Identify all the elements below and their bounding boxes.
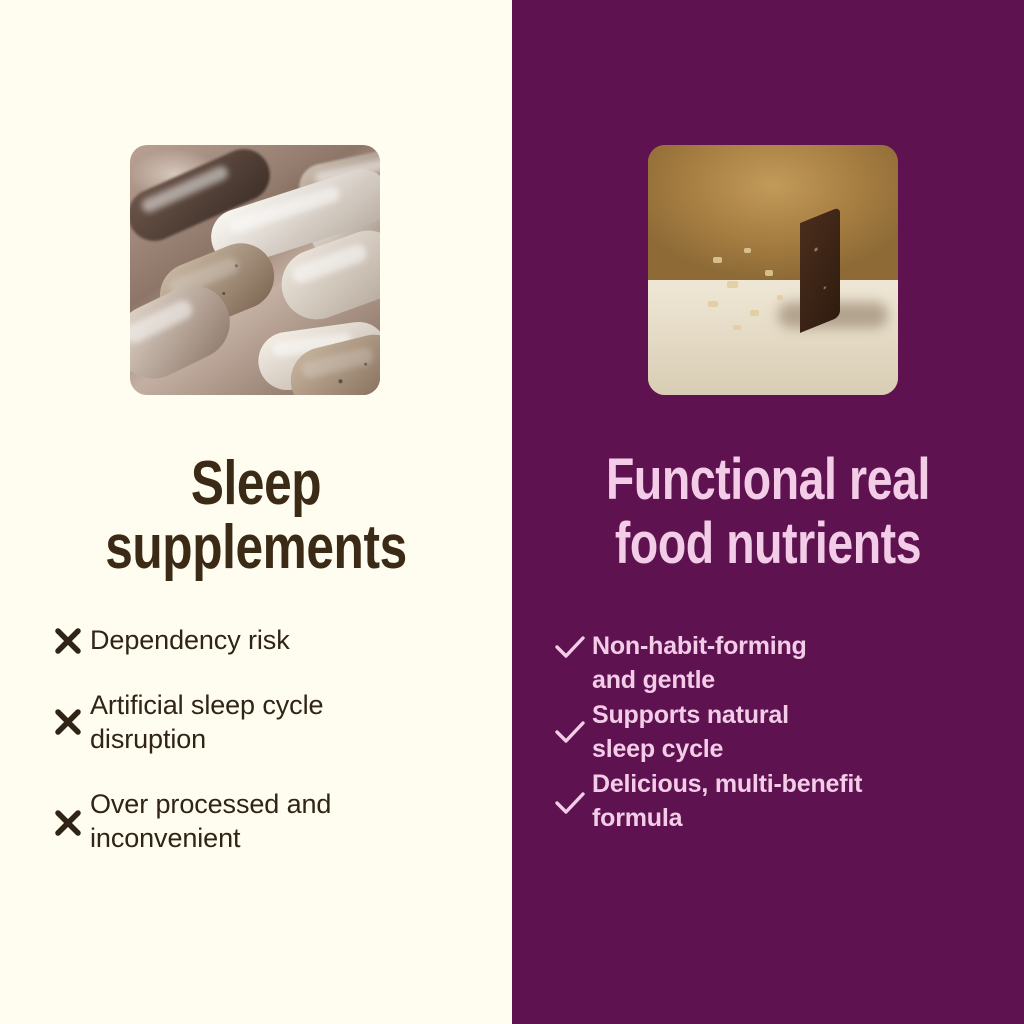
left-heading-line-2: supplements <box>51 516 461 580</box>
list-item: Artificial sleep cycle disruption <box>0 687 512 756</box>
x-icon <box>46 808 90 838</box>
list-item-text: Over processed and inconvenient <box>90 786 331 855</box>
right-heading-line-1: Functional real <box>563 448 973 512</box>
list-item: Over processed and inconvenient <box>0 786 512 855</box>
x-icon <box>46 707 90 737</box>
left-panel: Sleep supplements Dependency risk <box>0 0 512 1024</box>
cube-front-face <box>696 233 800 343</box>
list-item-text: Supports natural sleep cycle <box>592 697 789 766</box>
comparison-graphic: Sleep supplements Dependency risk <box>0 0 1024 1024</box>
energy-bar-photo <box>648 145 898 395</box>
left-heading-line-1: Sleep <box>51 452 461 516</box>
pills-photo <box>130 145 380 395</box>
pills-image-card <box>130 145 380 395</box>
energy-bar-cube <box>696 219 846 343</box>
list-item-text: Artificial sleep cycle disruption <box>90 687 323 756</box>
list-item: Dependency risk <box>0 622 512 657</box>
check-icon <box>548 717 592 747</box>
right-panel: Functional real food nutrients Non-habit… <box>512 0 1024 1024</box>
left-bullet-list: Dependency risk Artificial sleep cycle d… <box>0 622 512 885</box>
energy-bar-image-card <box>648 145 898 395</box>
right-bullet-list: Non-habit-forming and gentle Supports na… <box>512 628 1024 835</box>
check-icon <box>548 632 592 662</box>
right-heading: Functional real food nutrients <box>563 448 973 576</box>
left-heading: Sleep supplements <box>51 452 461 580</box>
list-item: Non-habit-forming and gentle <box>548 628 1024 697</box>
list-item: Delicious, multi-benefit formula <box>548 766 1024 835</box>
x-icon <box>46 626 90 656</box>
check-icon <box>548 788 592 818</box>
right-heading-line-2: food nutrients <box>563 512 973 576</box>
list-item: Supports natural sleep cycle <box>548 697 1024 766</box>
list-item-text: Dependency risk <box>90 622 290 657</box>
list-item-text: Non-habit-forming and gentle <box>592 628 807 697</box>
list-item-text: Delicious, multi-benefit formula <box>592 766 862 835</box>
